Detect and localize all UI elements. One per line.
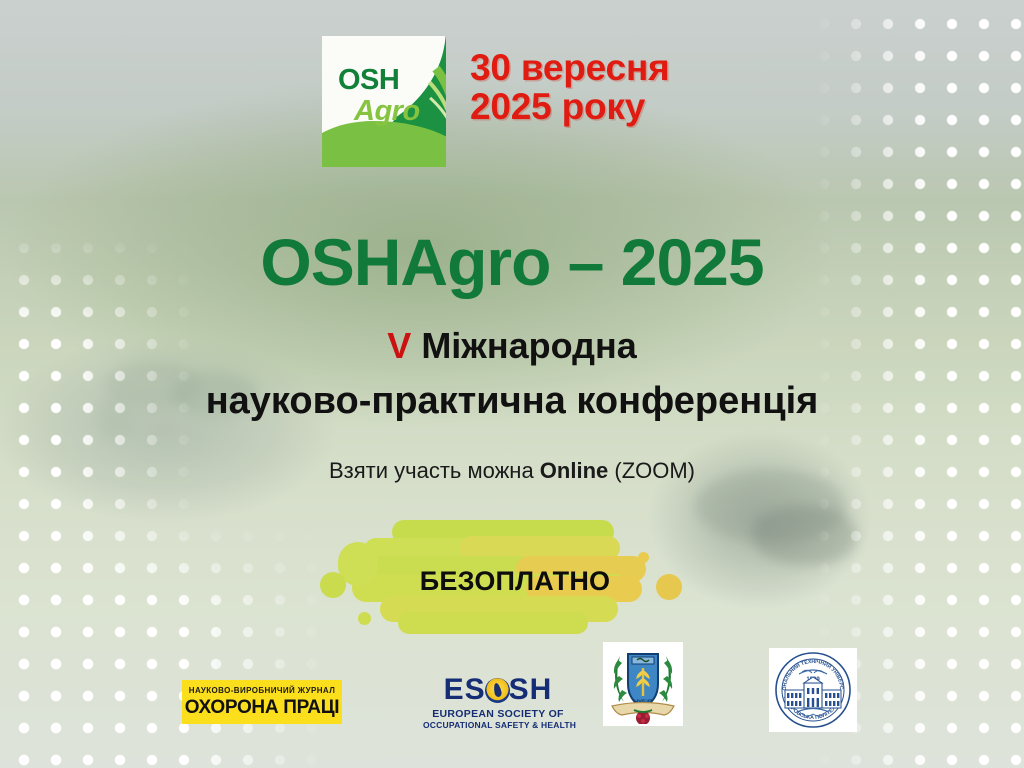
logo-wordmark: OSH Agro [338,66,420,126]
free-admission-label: БЕЗОПЛАТНО [320,566,710,597]
banner-accent-dot [638,552,649,563]
dnipro-polytechnic-seal-icon: НАЦІОНАЛЬНИЙ ТЕХНІЧНИЙ УНІВЕРСИТЕТ ДНІПР… [773,650,853,730]
esosh-subtitle-line-1: EUROPEAN SOCIETY OF [423,708,573,720]
event-date: 30 вересня 2025 року [470,36,669,126]
conference-subtitle-line-1: V Міжнародна [0,325,1024,367]
logo-agro-text: Agro [354,97,420,126]
nubip-crest-icon: НУБіП [606,644,680,724]
esosh-wordmark: ESSH [423,674,573,705]
oshagro-logo: OSH Agro [322,36,446,167]
esosh-subtitle-line-2: OCCUPATIONAL SAFETY & HEALTH [423,720,573,730]
conference-subtitle-text: Міжнародна [421,325,636,366]
esosh-word-right: SH [509,675,553,705]
poster-header: OSH Agro 30 вересня 2025 року [322,36,669,167]
banner-accent-dot [358,612,371,625]
flame-emblem-icon [485,678,510,703]
sponsor-logo-esosh: ESSH EUROPEAN SOCIETY OF OCCUPATIONAL SA… [423,674,573,730]
journal-tagline: НАУКОВО-ВИРОБНИЧИЙ ЖУРНАЛ [189,686,335,695]
conference-poster: OSH Agro 30 вересня 2025 року OSHAgro – … [0,0,1024,768]
logo-osh-text: OSH [338,66,420,95]
participation-suffix: (ZOOM) [608,458,695,483]
banner-bar [398,612,588,634]
conference-subtitle-line-2: науково-практична конференція [0,380,1024,423]
participation-prefix: Взяти участь можна [329,458,540,483]
event-date-line-1: 30 вересня [470,48,669,87]
journal-name: ОХОРОНА ПРАЦІ [185,697,340,719]
participation-mode: Online [540,458,608,483]
participation-note: Взяти участь можна Online (ZOOM) [0,458,1024,484]
edition-roman-numeral: V [387,325,411,366]
sponsor-logo-dnipro-polytechnic: НАЦІОНАЛЬНИЙ ТЕХНІЧНИЙ УНІВЕРСИТЕТ ДНІПР… [769,648,857,732]
event-date-line-2: 2025 року [470,87,669,126]
sponsor-logo-row: НАУКОВО-ВИРОБНИЧИЙ ЖУРНАЛ ОХОРОНА ПРАЦІ … [0,638,1024,748]
poster-title: OSHAgro – 2025 [0,224,1024,300]
sponsor-logo-nubip: НУБіП [603,642,683,726]
esosh-word-left: ES [444,675,486,705]
free-admission-banner: БЕЗОПЛАТНО [320,512,710,640]
sponsor-logo-journal: НАУКОВО-ВИРОБНИЧИЙ ЖУРНАЛ ОХОРОНА ПРАЦІ [182,680,342,724]
